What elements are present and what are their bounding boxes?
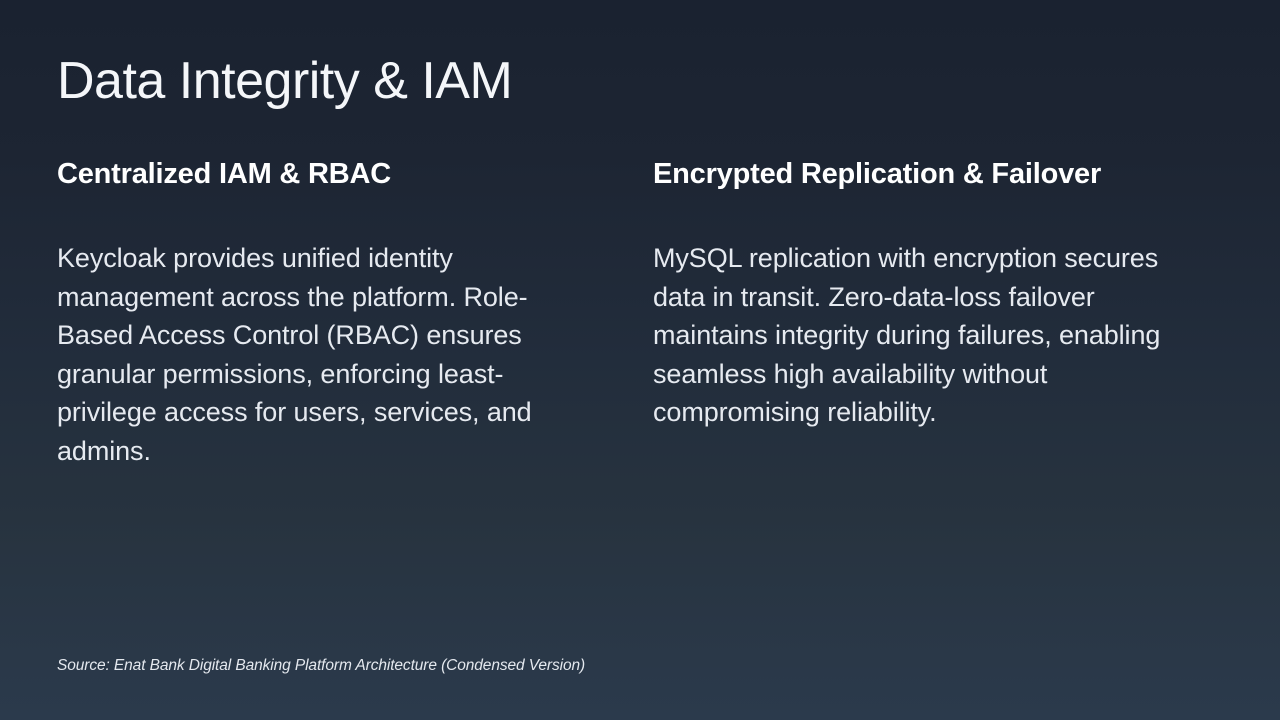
content-column-right: Encrypted Replication & Failover MySQL r… xyxy=(653,152,1173,471)
column-heading-encrypted-replication-failover: Encrypted Replication & Failover xyxy=(653,152,1113,197)
slide-canvas: Data Integrity & IAM Centralized IAM & R… xyxy=(0,0,1280,720)
content-column-left: Centralized IAM & RBAC Keycloak provides… xyxy=(57,152,577,471)
source-note: Source: Enat Bank Digital Banking Platfo… xyxy=(57,657,585,675)
column-body-centralized-iam-rbac: Keycloak provides unified identity manag… xyxy=(57,239,577,471)
column-heading-centralized-iam-rbac: Centralized IAM & RBAC xyxy=(57,152,577,197)
page-title: Data Integrity & IAM xyxy=(57,52,512,110)
column-body-encrypted-replication-failover: MySQL replication with encryption secure… xyxy=(653,239,1173,432)
two-column-content: Centralized IAM & RBAC Keycloak provides… xyxy=(57,152,1227,471)
